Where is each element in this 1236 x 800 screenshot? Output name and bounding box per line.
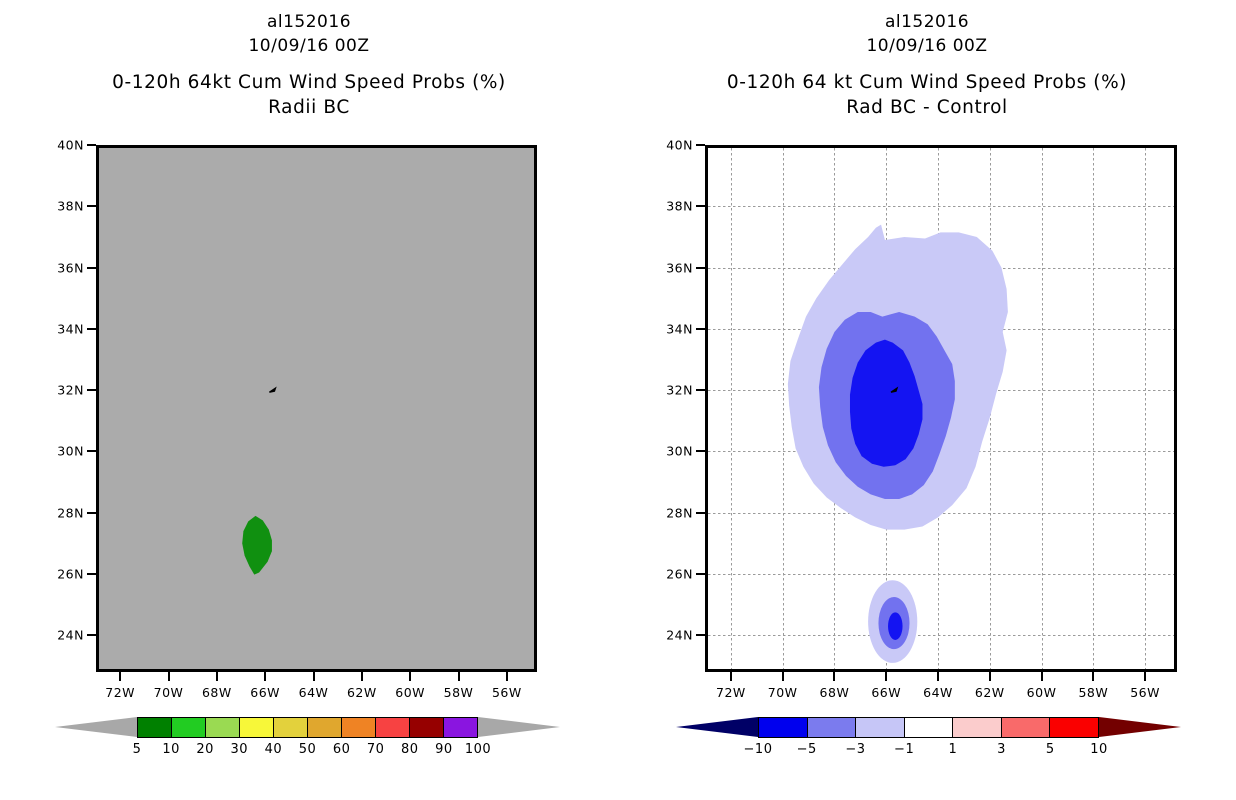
colorbar-tick-label: −10 [744, 742, 773, 757]
right-plot-area: 40N38N36N34N32N30N28N26N24N72W70W68W66W6… [705, 145, 1177, 672]
y-tick-label: 28N [57, 505, 84, 520]
right-colorbar: −10−5−3−113510 [676, 714, 1181, 760]
colorbar-tick-label: 80 [401, 742, 419, 757]
y-tick [87, 205, 96, 207]
x-tick [833, 672, 835, 681]
x-tick-label: 72W [716, 685, 746, 700]
colorbar-under-arrow [676, 717, 758, 737]
y-tick [87, 450, 96, 452]
x-tick [1092, 672, 1094, 681]
colorbar-segment [444, 718, 477, 737]
storm-center-marker [269, 388, 275, 392]
y-tick-label: 30N [57, 444, 84, 459]
x-tick [506, 672, 508, 681]
x-tick [313, 672, 315, 681]
x-tick-label: 62W [347, 685, 377, 700]
x-tick [937, 672, 939, 681]
y-tick [696, 573, 705, 575]
y-tick [696, 267, 705, 269]
y-tick-label: 32N [666, 383, 693, 398]
y-tick [696, 512, 705, 514]
x-tick-label: 64W [299, 685, 329, 700]
colorbar-tick-label: 90 [435, 742, 453, 757]
colorbar-segment [905, 718, 954, 737]
colorbar-tick-label: 10 [162, 742, 180, 757]
colorbar-segment [953, 718, 1002, 737]
x-tick-label: 62W [975, 685, 1005, 700]
colorbar-segment [376, 718, 410, 737]
y-tick [696, 328, 705, 330]
y-tick [87, 144, 96, 146]
x-tick-label: 60W [1027, 685, 1057, 700]
colorbar-segment [410, 718, 444, 737]
y-tick-label: 38N [57, 199, 84, 214]
colorbar-tick-label: 70 [367, 742, 385, 757]
right-subtitle-2: Rad BC - Control [618, 95, 1236, 120]
x-tick-label: 70W [768, 685, 798, 700]
panel-left: al152016 10/09/16 00Z 0-120h 64kt Cum Wi… [0, 0, 618, 800]
left-colorbar: 5102030405060708090100 [55, 714, 560, 760]
x-tick-label: 64W [923, 685, 953, 700]
x-tick [168, 672, 170, 681]
left-contour-layer [96, 145, 537, 672]
y-tick-label: 36N [666, 260, 693, 275]
x-tick-label: 66W [250, 685, 280, 700]
colorbar-over-arrow [1099, 717, 1181, 737]
x-tick-label: 70W [154, 685, 184, 700]
y-tick-label: 28N [666, 505, 693, 520]
x-tick [264, 672, 266, 681]
y-tick [87, 512, 96, 514]
y-tick-label: 26N [57, 567, 84, 582]
colorbar-swatches [758, 717, 1099, 738]
left-plot-area: 40N38N36N34N32N30N28N26N24N72W70W68W66W6… [96, 145, 537, 672]
colorbar-tick-label: 5 [133, 742, 142, 757]
y-tick-label: 40N [57, 138, 84, 153]
colorbar-segment [308, 718, 342, 737]
colorbar-segment [1002, 718, 1051, 737]
x-tick-label: 66W [871, 685, 901, 700]
colorbar-segment [240, 718, 274, 737]
gridline-horizontal [708, 145, 1174, 146]
x-tick [119, 672, 121, 681]
colorbar-swatches [137, 717, 478, 738]
left-subtitle-2: Radii BC [0, 95, 618, 120]
right-contour-layer [705, 145, 1177, 672]
x-tick [361, 672, 363, 681]
x-tick [458, 672, 460, 681]
y-tick [87, 389, 96, 391]
y-tick-label: 30N [666, 444, 693, 459]
x-tick-label: 68W [202, 685, 232, 700]
right-storm-id: al152016 [618, 10, 1236, 34]
y-tick [696, 144, 705, 146]
y-tick [696, 634, 705, 636]
colorbar-tick-label: 30 [231, 742, 249, 757]
y-tick-label: 32N [57, 383, 84, 398]
colorbar-tick-label: 3 [997, 742, 1006, 757]
y-tick [87, 634, 96, 636]
y-tick [87, 267, 96, 269]
x-tick-label: 56W [1130, 685, 1160, 700]
x-tick-label: 72W [105, 685, 135, 700]
y-tick [696, 450, 705, 452]
colorbar-segment [206, 718, 240, 737]
x-tick [1144, 672, 1146, 681]
y-tick-label: 36N [57, 260, 84, 275]
x-tick [409, 672, 411, 681]
y-tick-label: 24N [57, 628, 84, 643]
panel-right: al152016 10/09/16 00Z 0-120h 64 kt Cum W… [618, 0, 1236, 800]
x-tick [216, 672, 218, 681]
x-tick [885, 672, 887, 681]
right-subtitle-1: 0-120h 64 kt Cum Wind Speed Probs (%) [618, 70, 1236, 95]
secondary-contour-region--10 [888, 612, 902, 640]
x-tick-label: 58W [444, 685, 474, 700]
colorbar-tick-label: 40 [265, 742, 283, 757]
colorbar-tick-label: 10 [1090, 742, 1108, 757]
x-tick-label: 60W [395, 685, 425, 700]
right-datetime: 10/09/16 00Z [618, 34, 1236, 58]
colorbar-tick-label: 100 [465, 742, 491, 757]
y-tick [696, 205, 705, 207]
colorbar-tick-label: 20 [196, 742, 214, 757]
y-tick-label: 34N [666, 321, 693, 336]
left-datetime: 10/09/16 00Z [0, 34, 618, 58]
y-tick [87, 573, 96, 575]
x-tick [1041, 672, 1043, 681]
left-plot-frame [96, 145, 537, 672]
colorbar-tick-label: 1 [948, 742, 957, 757]
colorbar-tick-label: −5 [797, 742, 817, 757]
right-plot-frame [705, 145, 1177, 672]
x-tick-label: 68W [820, 685, 850, 700]
colorbar-segment [138, 718, 172, 737]
colorbar-segment [342, 718, 376, 737]
right-title-block: al152016 10/09/16 00Z 0-120h 64 kt Cum W… [618, 10, 1236, 120]
left-storm-id: al152016 [0, 10, 618, 34]
colorbar-tick-label: 5 [1046, 742, 1055, 757]
colorbar-segment [172, 718, 206, 737]
x-tick [782, 672, 784, 681]
colorbar-tick-label: 50 [299, 742, 317, 757]
y-tick-label: 26N [666, 567, 693, 582]
left-title-block: al152016 10/09/16 00Z 0-120h 64kt Cum Wi… [0, 10, 618, 120]
colorbar-segment [856, 718, 905, 737]
contour-region-5-10 [242, 516, 272, 575]
y-tick-label: 40N [666, 138, 693, 153]
colorbar-under-arrow [55, 717, 137, 737]
y-tick [87, 328, 96, 330]
colorbar-tick-label: −1 [894, 742, 914, 757]
colorbar-segment [1050, 718, 1098, 737]
colorbar-tick-label: −3 [845, 742, 865, 757]
y-tick-label: 38N [666, 199, 693, 214]
x-tick-label: 56W [492, 685, 522, 700]
x-tick-label: 58W [1078, 685, 1108, 700]
x-tick [730, 672, 732, 681]
colorbar-segment [274, 718, 308, 737]
colorbar-tick-label: 60 [333, 742, 351, 757]
y-tick-label: 24N [666, 628, 693, 643]
x-tick [989, 672, 991, 681]
left-subtitle-1: 0-120h 64kt Cum Wind Speed Probs (%) [0, 70, 618, 95]
y-tick-label: 34N [57, 321, 84, 336]
y-tick [696, 389, 705, 391]
colorbar-over-arrow [478, 717, 560, 737]
colorbar-segment [759, 718, 808, 737]
colorbar-segment [808, 718, 857, 737]
